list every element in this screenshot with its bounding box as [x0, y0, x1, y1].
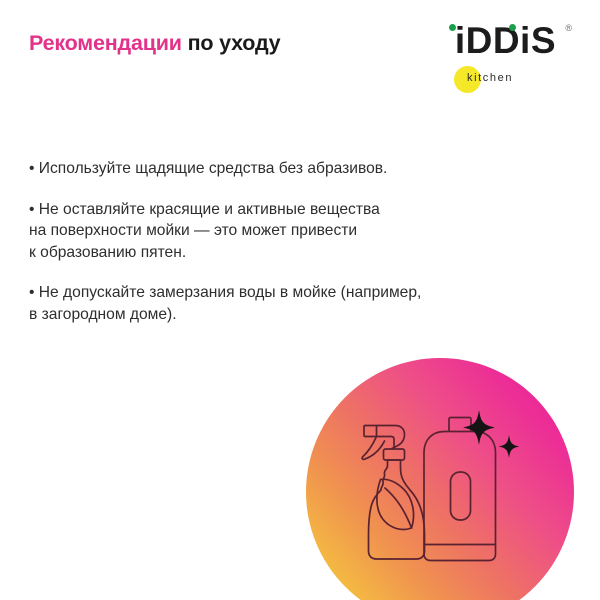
sparkle-medium-icon	[499, 435, 520, 458]
spray-bottle-body-icon	[369, 460, 425, 559]
logo-dot-second-i	[509, 24, 516, 31]
page-title-accent: Рекомендации	[29, 31, 182, 55]
spray-nozzle-tip-icon	[364, 426, 377, 437]
page-title-rest: по уходу	[182, 31, 281, 55]
logo-dot-first-i	[449, 24, 456, 31]
list-item: • Используйте щадящие средства без абраз…	[29, 158, 529, 180]
brand-logo: iDDiS ® kitchen	[432, 22, 572, 94]
sparkle-large-icon	[463, 410, 495, 445]
recommendations-list: • Используйте щадящие средства без абраз…	[29, 158, 529, 325]
logo-sub-brand: kitchen	[454, 66, 540, 94]
logo-sub-label: kitchen	[467, 73, 513, 84]
detergent-grip-icon	[451, 472, 471, 520]
detergent-bottle-body-icon	[424, 432, 496, 561]
logo-wordmark: iDDiS	[455, 22, 556, 59]
spray-collar-icon	[384, 449, 405, 460]
list-item: • Не оставляйте красящие и активные веще…	[29, 199, 529, 264]
care-recommendations-card: Рекомендации по уходу iDDiS ® kitchen • …	[0, 0, 600, 600]
list-item: • Не допускайте замерзания воды в мойке …	[29, 282, 529, 325]
spray-trigger-icon	[362, 438, 384, 460]
cleaning-bottles-illustration	[358, 406, 538, 581]
detergent-cap-icon	[449, 418, 471, 432]
registered-trademark-icon: ®	[565, 24, 572, 33]
header: Рекомендации по уходу iDDiS ® kitchen	[0, 0, 600, 110]
page-title: Рекомендации по уходу	[29, 33, 280, 55]
spray-head-inner-icon	[377, 437, 395, 447]
illustration-area	[306, 358, 574, 600]
